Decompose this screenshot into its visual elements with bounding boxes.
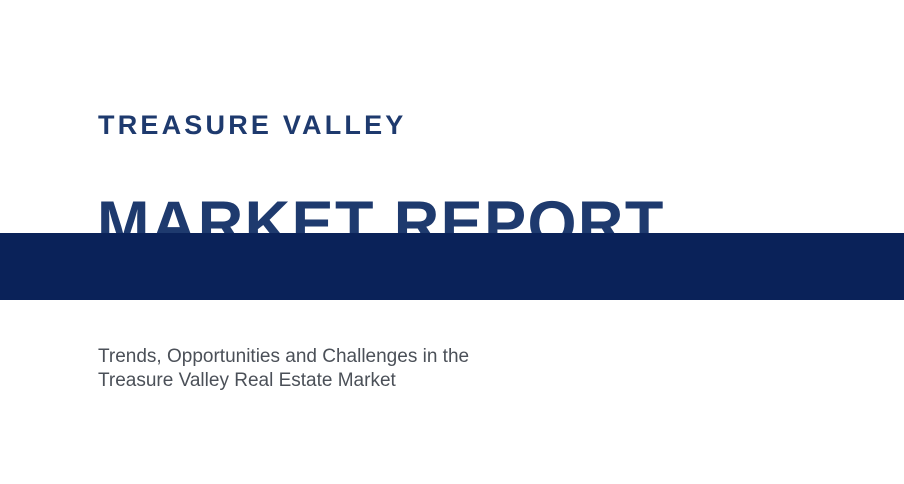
- report-subtitle: Trends, Opportunities and Challenges in …: [98, 345, 658, 393]
- report-subtitle-line-2: Treasure Valley Real Estate Market: [98, 369, 658, 393]
- report-subtitle-line-1: Trends, Opportunities and Challenges in …: [98, 345, 658, 369]
- report-cover-page: TREASURE VALLEY MARKET REPORT December 2…: [0, 0, 904, 484]
- report-eyebrow-region-name: TREASURE VALLEY: [98, 108, 407, 142]
- report-date-label: December 2022: [99, 478, 336, 484]
- date-band: December 2022: [0, 233, 904, 300]
